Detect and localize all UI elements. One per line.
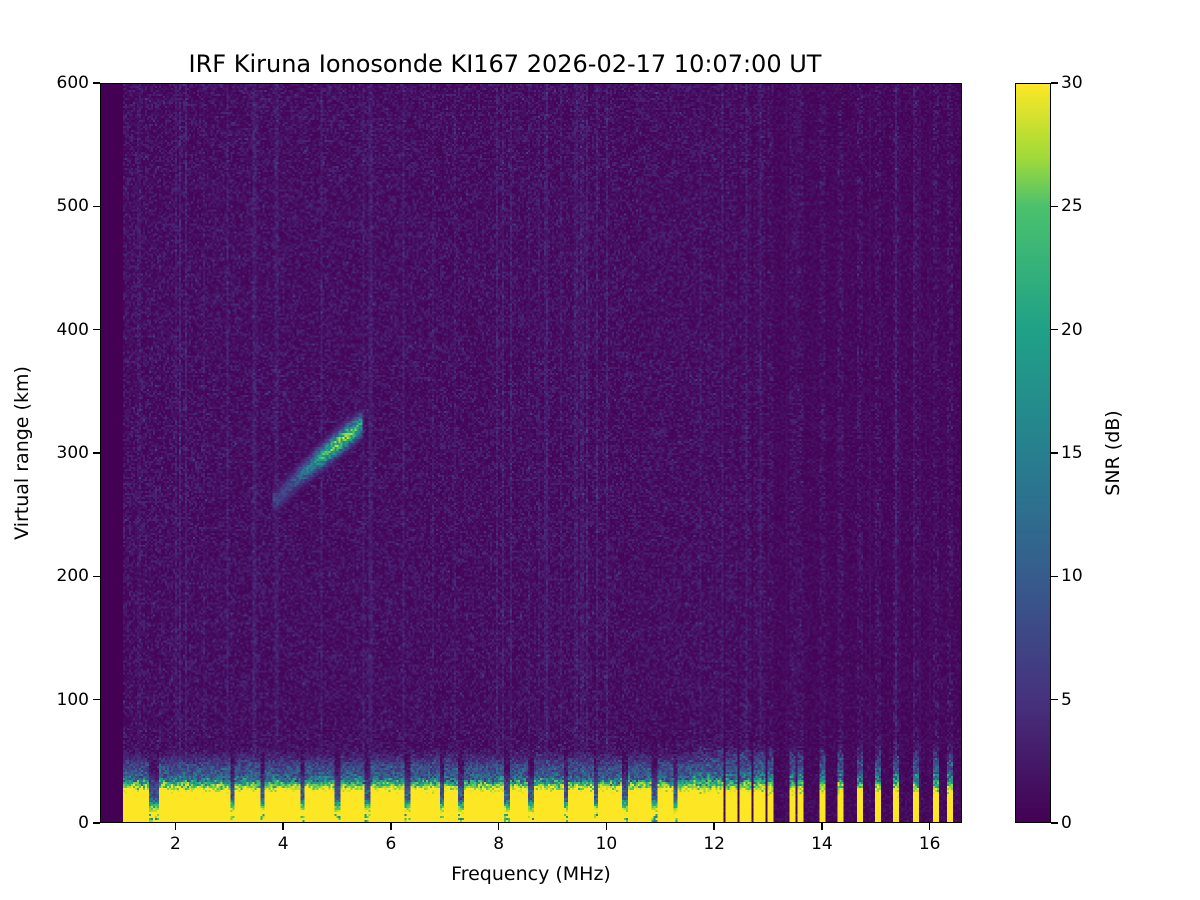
x-tick-label: 16 [919,834,941,854]
x-tick-mark [929,823,931,830]
colorbar[interactable] [1015,83,1051,823]
y-tick-mark [93,452,100,454]
y-tick-mark [93,822,100,824]
y-tick-label: 400 [57,320,89,340]
y-tick-mark [93,82,100,84]
y-tick-label: 300 [57,443,89,463]
x-tick-label: 12 [703,834,725,854]
y-tick-mark [93,206,100,208]
colorbar-tick-mark [1051,206,1058,208]
ionogram-plot-area[interactable] [100,83,962,823]
x-axis-label: Frequency (MHz) [451,863,611,885]
title-line-1: IRF Kiruna Ionosonde KI167 2026-02-17 10… [189,50,822,78]
colorbar-tick-label: 30 [1061,73,1083,93]
x-tick-mark [390,823,392,830]
x-tick-label: 10 [596,834,618,854]
y-tick-mark [93,699,100,701]
colorbar-tick-label: 0 [1061,813,1072,833]
colorbar-tick-mark [1051,329,1058,331]
x-tick-mark [498,823,500,830]
x-tick-mark [282,823,284,830]
x-tick-mark [821,823,823,830]
x-tick-mark [713,823,715,830]
colorbar-tick-label: 5 [1061,690,1072,710]
colorbar-tick-mark [1051,452,1058,454]
x-tick-label: 4 [278,834,289,854]
x-tick-mark [175,823,177,830]
x-tick-label: 2 [170,834,181,854]
colorbar-tick-mark [1051,699,1058,701]
colorbar-tick-mark [1051,822,1058,824]
y-tick-label: 600 [57,73,89,93]
colorbar-tick-mark [1051,576,1058,578]
colorbar-tick-label: 20 [1061,320,1083,340]
y-axis-label: Virtual range (km) [11,366,33,540]
x-tick-label: 14 [811,834,833,854]
ionogram-heatmap [101,84,961,822]
y-tick-label: 500 [57,196,89,216]
y-tick-label: 200 [57,566,89,586]
y-tick-mark [93,329,100,331]
x-tick-mark [606,823,608,830]
y-tick-label: 100 [57,690,89,710]
colorbar-tick-mark [1051,82,1058,84]
colorbar-label: SNR (dB) [1102,410,1124,495]
x-tick-label: 6 [386,834,397,854]
y-tick-label: 0 [78,813,89,833]
colorbar-tick-label: 10 [1061,566,1083,586]
colorbar-tick-label: 25 [1061,196,1083,216]
y-tick-mark [93,576,100,578]
x-tick-label: 8 [493,834,504,854]
colorbar-tick-label: 15 [1061,443,1083,463]
colorbar-gradient [1016,84,1050,822]
